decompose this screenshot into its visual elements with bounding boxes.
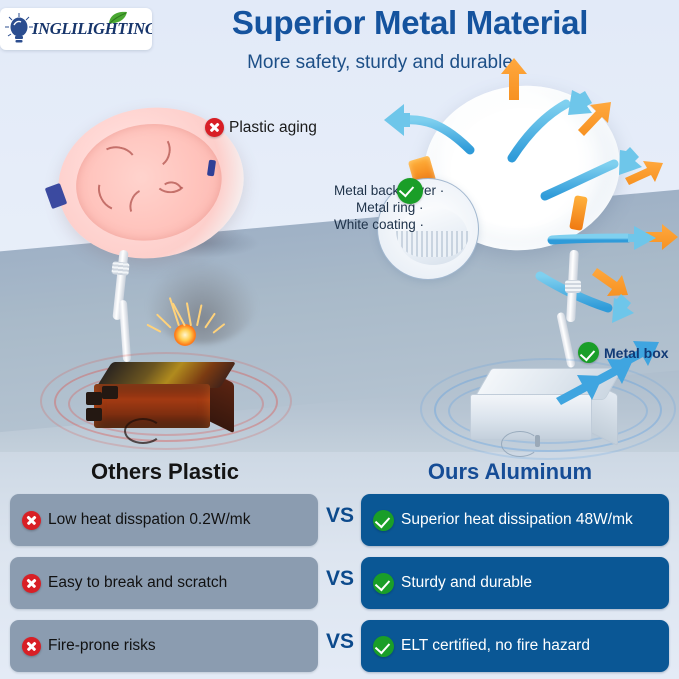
- others-feature-pill[interactable]: Low heat disspation 0.2W/mk: [10, 494, 318, 546]
- red-x-icon: [22, 574, 41, 593]
- ours-feature-label: Sturdy and durable: [401, 574, 532, 592]
- plastic-light-wire-lower: [119, 300, 131, 362]
- others-feature-pill[interactable]: Easy to break and scratch: [10, 557, 318, 609]
- plastic-junction-box: [92, 362, 236, 430]
- infographic-page: INGLILIGHTING Superior Metal Material Mo…: [0, 0, 679, 679]
- spark-burst: [174, 324, 196, 346]
- ours-feature-pill[interactable]: Sturdy and durable: [361, 557, 669, 609]
- comparison-table: Low heat disspation 0.2W/mk VS Superior …: [0, 494, 679, 679]
- callout-line-metal-back-cover: Metal back cover ·: [334, 182, 444, 199]
- others-feature-label: Easy to break and scratch: [48, 574, 227, 592]
- metal-box-callout: Metal box: [578, 342, 669, 363]
- green-check-icon: [373, 510, 394, 531]
- plastic-wire-connector: [111, 261, 129, 276]
- red-x-icon: [205, 118, 224, 137]
- others-feature-label: Low heat disspation 0.2W/mk: [48, 511, 250, 529]
- others-feature-pill[interactable]: Fire-prone risks: [10, 620, 318, 672]
- plastic-aging-label: Plastic aging: [229, 119, 317, 137]
- comparison-row: Low heat disspation 0.2W/mk VS Superior …: [0, 494, 679, 557]
- others-feature-label: Fire-prone risks: [48, 637, 156, 655]
- metal-junction-box: [468, 368, 628, 446]
- green-check-icon: [373, 636, 394, 657]
- metal-features-callout: Metal back cover · Metal ring · White co…: [334, 182, 444, 233]
- smoke-plume: [148, 262, 256, 344]
- green-check-icon: [397, 178, 423, 204]
- vs-separator: VS: [322, 504, 358, 528]
- metal-box-label: Metal box: [604, 345, 669, 361]
- column-header-ours: Ours Aluminum: [345, 459, 675, 485]
- callout-line-white-coating: White coating ·: [334, 216, 444, 233]
- vs-separator: VS: [322, 567, 358, 591]
- comparison-row: Fire-prone risks VS ELT certified, no fi…: [0, 620, 679, 679]
- plastic-aging-callout: Plastic aging: [205, 118, 317, 137]
- red-x-icon: [22, 511, 41, 530]
- column-header-others: Others Plastic: [0, 459, 330, 485]
- green-check-icon: [578, 342, 599, 363]
- product-comparison-stage: Plastic aging: [0, 0, 679, 460]
- ours-feature-pill[interactable]: ELT certified, no fire hazard: [361, 620, 669, 672]
- ours-feature-label: Superior heat dissipation 48W/mk: [401, 511, 633, 529]
- vs-separator: VS: [322, 630, 358, 654]
- green-check-icon: [373, 573, 394, 594]
- ours-feature-label: ELT certified, no fire hazard: [401, 637, 590, 655]
- callout-line-metal-ring: Metal ring ·: [334, 199, 444, 216]
- ours-feature-pill[interactable]: Superior heat dissipation 48W/mk: [361, 494, 669, 546]
- red-x-icon: [22, 637, 41, 656]
- comparison-row: Easy to break and scratch VS Sturdy and …: [0, 557, 679, 620]
- metal-wire-connector: [565, 280, 581, 293]
